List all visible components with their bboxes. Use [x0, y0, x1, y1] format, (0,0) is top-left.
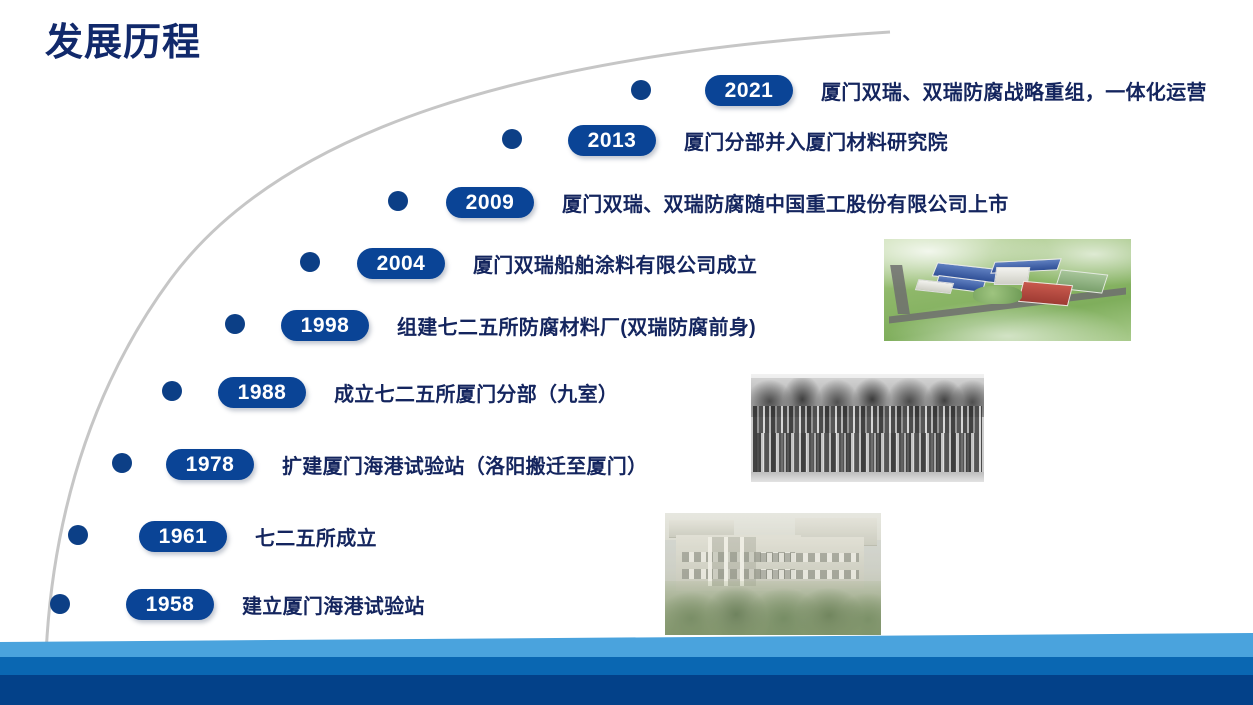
bottom-decorative-bands: [0, 633, 1253, 705]
timeline-dot-2013: [502, 129, 522, 149]
slide-canvas: 发展历程 2021 厦门双瑞、双瑞防腐战略重组，一体化运营 2013 厦门分部并…: [0, 0, 1253, 705]
event-text-1961: 七二五所成立: [255, 522, 377, 551]
timeline-row-1988[interactable]: 1988 成立七二五所厦门分部（九室）: [218, 377, 618, 408]
timeline-row-1978[interactable]: 1978 扩建厦门海港试验站（洛阳搬迁至厦门）: [166, 449, 647, 480]
band-dark-blue: [0, 675, 1253, 705]
timeline-row-2009[interactable]: 2009 厦门双瑞、双瑞防腐随中国重工股份有限公司上市: [446, 187, 1009, 218]
event-text-1978: 扩建厦门海港试验站（洛阳搬迁至厦门）: [282, 450, 647, 479]
event-text-1998: 组建七二五所防腐材料厂(双瑞防腐前身): [397, 311, 756, 340]
timeline-row-1998[interactable]: 1998 组建七二五所防腐材料厂(双瑞防腐前身): [281, 310, 756, 341]
timeline-dot-1961: [68, 525, 88, 545]
timeline-dot-2009: [388, 191, 408, 211]
timeline-row-1958[interactable]: 1958 建立厦门海港试验站: [126, 589, 425, 620]
year-badge-1978: 1978: [166, 449, 254, 480]
event-text-1988: 成立七二五所厦门分部（九室）: [334, 378, 618, 407]
band-light-blue: [0, 633, 1253, 657]
year-badge-1958: 1958: [126, 589, 214, 620]
timeline-dot-1988: [162, 381, 182, 401]
timeline-row-2013[interactable]: 2013 厦门分部并入厦门材料研究院: [568, 125, 948, 156]
timeline-dot-2004: [300, 252, 320, 272]
event-text-2021: 厦门双瑞、双瑞防腐战略重组，一体化运营: [821, 76, 1207, 105]
aerial-factory-campus-photo: [884, 239, 1131, 341]
timeline-dot-2021: [631, 80, 651, 100]
year-badge-1961: 1961: [139, 521, 227, 552]
year-badge-2013: 2013: [568, 125, 656, 156]
timeline-dot-1998: [225, 314, 245, 334]
event-text-2009: 厦门双瑞、双瑞防腐随中国重工股份有限公司上市: [562, 188, 1009, 217]
year-badge-2004: 2004: [357, 248, 445, 279]
year-badge-2009: 2009: [446, 187, 534, 218]
timeline-row-1961[interactable]: 1961 七二五所成立: [139, 521, 377, 552]
timeline-dot-1978: [112, 453, 132, 473]
event-text-2004: 厦门双瑞船舶涂料有限公司成立: [473, 249, 757, 278]
band-mid-blue: [0, 657, 1253, 675]
year-badge-2021: 2021: [705, 75, 793, 106]
event-text-2013: 厦门分部并入厦门材料研究院: [684, 126, 948, 155]
timeline-dot-1958: [50, 594, 70, 614]
event-text-1958: 建立厦门海港试验站: [242, 590, 425, 619]
timeline-row-2004[interactable]: 2004 厦门双瑞船舶涂料有限公司成立: [357, 248, 757, 279]
historic-group-photo: [751, 374, 984, 482]
year-badge-1988: 1988: [218, 377, 306, 408]
old-building-photo: [665, 513, 881, 635]
page-title: 发展历程: [45, 22, 201, 66]
year-badge-1998: 1998: [281, 310, 369, 341]
timeline-row-2021[interactable]: 2021 厦门双瑞、双瑞防腐战略重组，一体化运营: [705, 75, 1207, 106]
